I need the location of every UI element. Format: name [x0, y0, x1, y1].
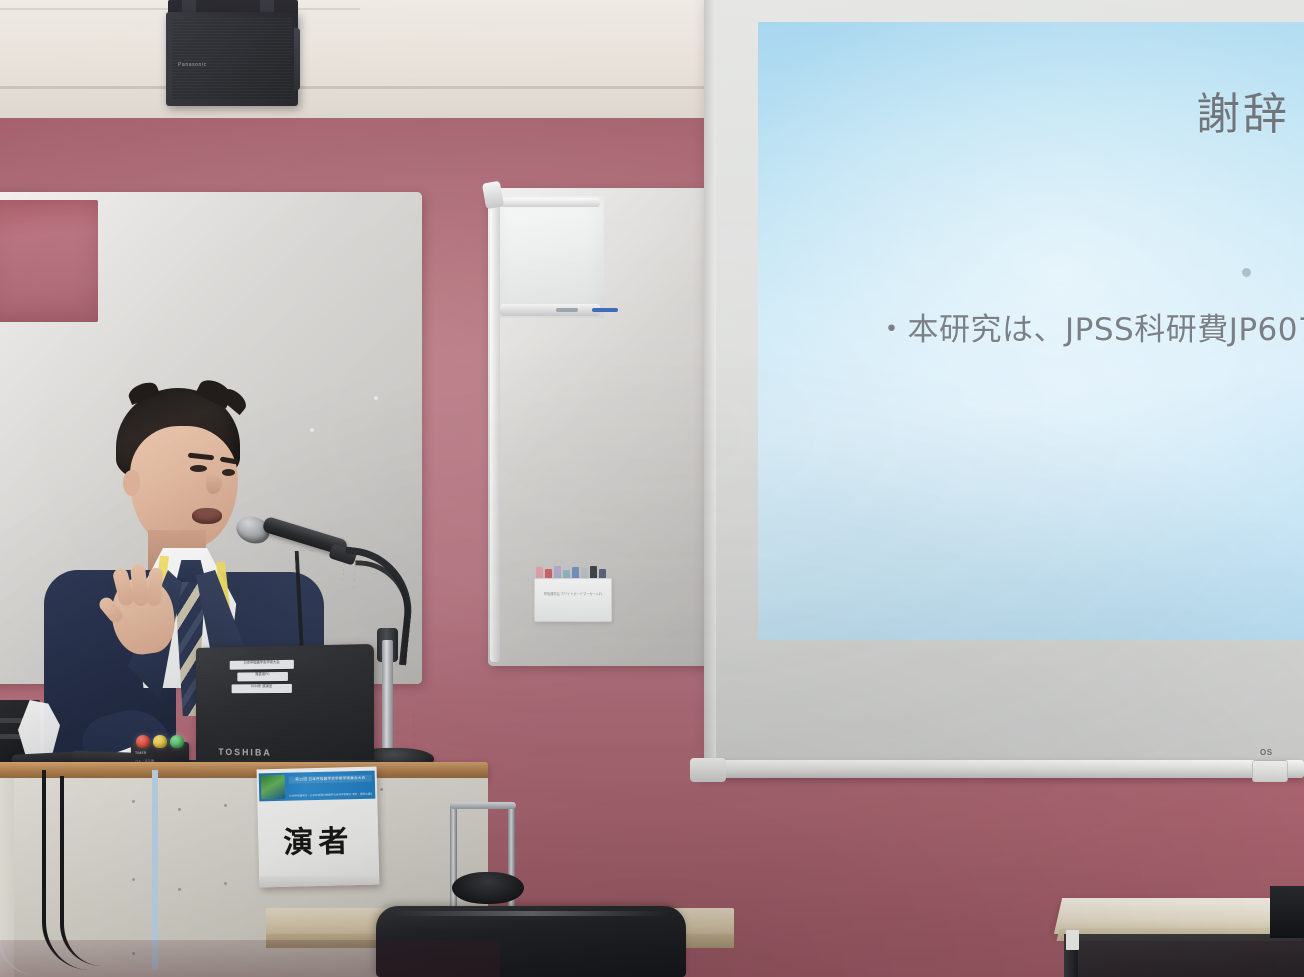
floor-shadow [0, 940, 500, 977]
whiteboard-surface: 呼吸器学会 ホワイトボードマーカー入れ [496, 196, 604, 318]
eye [190, 465, 207, 472]
timer-brand-label: TIMER [135, 751, 147, 755]
slide-bullet-text: ・本研究は、JPSS科研費JP6077 [876, 304, 1304, 349]
red-lamp [136, 735, 150, 748]
laptop-label-2: 発表用PC [237, 672, 288, 681]
screen-bottom-bar [698, 760, 1304, 778]
screen-brand-logo: OS [1260, 748, 1273, 757]
whiteboard: 呼吸器学会 ホワイトボードマーカー入れ [488, 188, 710, 666]
chair-highlight [394, 911, 668, 916]
grey-eraser-on-rail[interactable] [556, 308, 578, 312]
whiteboard-left-rail [490, 192, 500, 662]
screen-left-edge [704, 0, 716, 762]
whiteboard-bottom-rail [500, 304, 600, 316]
blue-marker-on-rail[interactable] [592, 308, 618, 312]
stool-seat [452, 872, 524, 904]
finger [147, 568, 164, 607]
panel-screw [224, 804, 227, 807]
panel-screw [132, 800, 135, 803]
podium-sign-text: 演者 [257, 803, 379, 876]
speaker-side-panel [294, 28, 300, 90]
panel-screw [132, 878, 135, 881]
eye [222, 469, 235, 476]
green-lamp [170, 735, 184, 748]
yellow-lamp [153, 735, 167, 748]
conference-banner-title: 第12回 日本呼吸器学会学術学術集会大会 [289, 775, 372, 784]
board-face [0, 200, 98, 322]
panel-screw [224, 882, 227, 885]
power-cable [60, 776, 102, 966]
panel-screw [380, 788, 383, 791]
podium-sign: 第12回 日本呼吸器学会学術学術集会大会 日本呼吸器学会・日本呼吸器内視鏡学会合… [257, 767, 380, 888]
speaker-brand-label: Panasonic [178, 62, 207, 68]
stool-top-bar [450, 802, 516, 809]
board-pin [374, 396, 378, 400]
right-dark-panel [1270, 886, 1304, 938]
screen-pull-handle[interactable] [1252, 760, 1288, 782]
conference-banner-subtitle: 日本呼吸器学会・日本呼吸器内視鏡学会合同学術集会 東京・国際会議場 [289, 792, 372, 798]
slide-title: 謝辞 [1196, 78, 1290, 142]
projected-slide: 謝辞 ・本研究は、JPSS科研費JP6077 [758, 22, 1304, 640]
screen-left-bracket [690, 758, 726, 782]
laptop-label-1: 日本呼吸器学会学術大会 [230, 660, 294, 670]
right-desk-panel [1078, 934, 1304, 977]
whiteboard-top-rail [500, 198, 600, 207]
laptop[interactable]: 日本呼吸器学会学術大会 発表用PC 2024年 講演室 TOSHIBA [196, 644, 374, 768]
marker-tray[interactable]: 呼吸器学会 ホワイトボードマーカー入れ [534, 578, 612, 622]
ear [123, 470, 140, 496]
laptop-label-3: 2024年 講演室 [232, 684, 292, 693]
ceiling-speaker: Panasonic [166, 12, 298, 106]
stool-frame-left [450, 802, 457, 922]
projector-dust-spot [1242, 268, 1251, 277]
mouth [192, 508, 222, 524]
speaker-grille [172, 18, 292, 100]
projection-screen-assembly: 謝辞 ・本研究は、JPSS科研費JP6077 OS [690, 0, 1304, 800]
laptop-brand-logo: TOSHIBA [218, 747, 272, 758]
microphone-stand-shaft [382, 640, 393, 758]
presentation-photo: Panasonic 呼吸器学会 ホワイトボードマーカー入れ [0, 0, 1304, 977]
conference-banner: 第12回 日本呼吸器学会学術学術集会大会 日本呼吸器学会・日本呼吸器内視鏡学会合… [259, 771, 376, 802]
marker-tray-label: 呼吸器学会 ホワイトボードマーカー入れ [541, 591, 605, 597]
right-desk-label [1066, 930, 1079, 950]
conference-logo-image [261, 775, 286, 800]
